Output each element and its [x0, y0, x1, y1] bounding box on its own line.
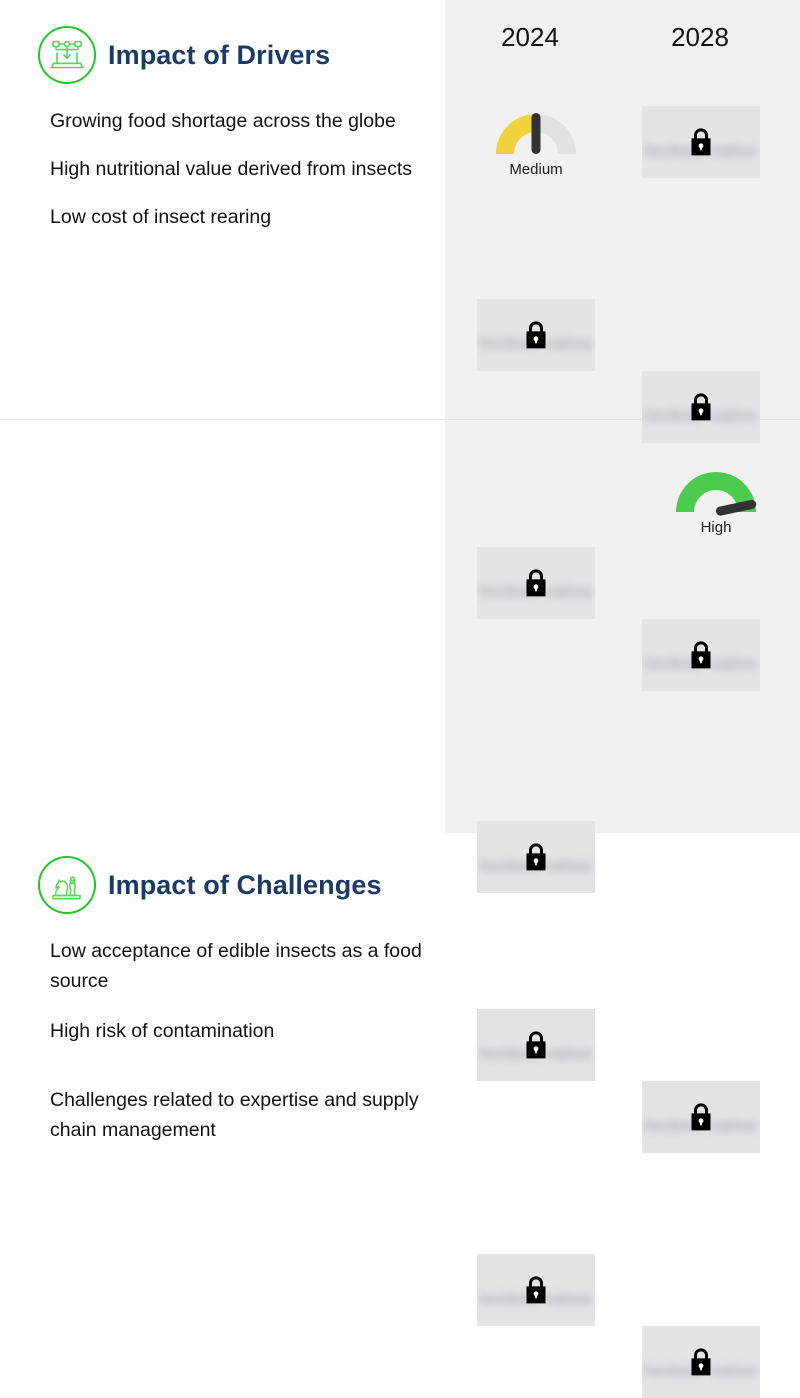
section-drivers-title: Impact of Drivers [108, 40, 330, 71]
gauge-high [670, 466, 762, 516]
cell-challenges-r2-2024[interactable]: locked value [477, 1009, 595, 1081]
cell-drivers-r2-2024[interactable]: locked value [477, 299, 595, 371]
challenges-bullet-3: Challenges related to expertise and supp… [50, 1085, 425, 1145]
lock-icon [686, 1099, 716, 1133]
gauge-high-label: High [670, 519, 762, 536]
cell-drivers-r3-2024[interactable]: locked value [477, 547, 595, 619]
cell-challenges-r3-2024[interactable]: locked value [477, 1254, 595, 1326]
lock-icon [521, 839, 551, 873]
cell-drivers-r1-2024[interactable]: Medium [477, 108, 595, 190]
drivers-bullet-2: High nutritional value derived from inse… [50, 154, 425, 184]
laptop-download-network-icon [38, 26, 96, 84]
section-drivers-header: Impact of Drivers [38, 26, 330, 84]
section-challenges-header: Impact of Challenges [38, 856, 382, 914]
cell-challenges-r1-2024[interactable]: locked value [477, 821, 595, 893]
section-drivers: Impact of Drivers Growing food shortage … [0, 0, 445, 419]
gauge-medium-label: Medium [490, 161, 582, 178]
lock-icon [686, 637, 716, 671]
impact-matrix: 2024 2028 [0, 0, 800, 833]
gauge-medium [490, 108, 582, 158]
challenges-bullet-list: Low acceptance of edible insects as a fo… [50, 936, 425, 1145]
lock-icon [521, 1272, 551, 1306]
drivers-bullet-list: Growing food shortage across the globe H… [50, 106, 425, 233]
section-challenges-title: Impact of Challenges [108, 870, 382, 901]
cell-challenges-r2-2028[interactable]: locked value [642, 1081, 760, 1153]
lock-icon [521, 565, 551, 599]
cell-drivers-r3-2028[interactable]: locked value [642, 619, 760, 691]
challenges-bullet-2: High risk of contamination [50, 1016, 425, 1046]
lock-icon [686, 389, 716, 423]
section-challenges: Impact of Challenges Low acceptance of e… [0, 420, 445, 833]
cell-drivers-r1-2028[interactable]: locked value [642, 106, 760, 178]
lock-icon [686, 124, 716, 158]
column-header-2024: 2024 [470, 22, 590, 53]
drivers-bullet-3: Low cost of insect rearing [50, 202, 425, 232]
lock-icon [686, 1344, 716, 1378]
lock-icon [521, 317, 551, 351]
cell-drivers-r2-2028[interactable]: locked value [642, 371, 760, 443]
lock-icon [521, 1027, 551, 1061]
challenges-bullet-1: Low acceptance of edible insects as a fo… [50, 936, 425, 996]
cell-challenges-r3-2028[interactable]: locked value [642, 1326, 760, 1398]
column-header-2028: 2028 [640, 22, 760, 53]
drivers-bullet-1: Growing food shortage across the globe [50, 106, 425, 136]
cell-challenges-r1-2028[interactable]: High [657, 466, 775, 548]
chess-pieces-icon [38, 856, 96, 914]
